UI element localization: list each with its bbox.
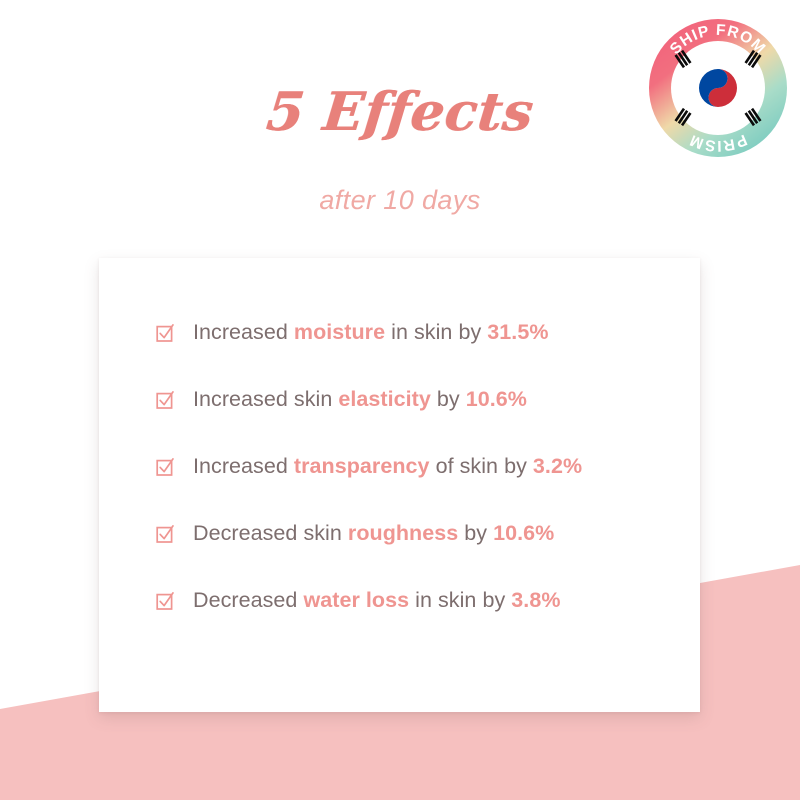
effect-text-prefix: Decreased skin: [193, 521, 348, 545]
effect-value: 10.6%: [466, 387, 527, 411]
checked-checkbox-icon: [156, 592, 174, 610]
effect-text: Decreased skin roughness by 10.6%: [193, 521, 554, 546]
effect-text: Increased skin elasticity by 10.6%: [193, 387, 527, 412]
checked-checkbox-icon: [156, 525, 174, 543]
effects-card: Increased moisture in skin by 31.5%Incre…: [99, 258, 700, 712]
effect-text-prefix: Increased: [193, 320, 294, 344]
effect-keyword: transparency: [294, 454, 430, 478]
effect-list-item: Increased transparency of skin by 3.2%: [156, 454, 582, 479]
page-title: 5 Effects: [264, 86, 536, 139]
effect-text: Increased moisture in skin by 31.5%: [193, 320, 549, 345]
effect-text-prefix: Increased skin: [193, 387, 338, 411]
effect-text: Decreased water loss in skin by 3.8%: [193, 588, 561, 613]
checked-checkbox-icon: [156, 391, 174, 409]
effect-text-prefix: Decreased: [193, 588, 303, 612]
effect-text-middle: in skin by: [385, 320, 487, 344]
effect-value: 10.6%: [493, 521, 554, 545]
effect-keyword: elasticity: [338, 387, 431, 411]
effects-list: Increased moisture in skin by 31.5%Incre…: [99, 258, 700, 712]
checked-checkbox-icon: [156, 324, 174, 342]
page-subtitle: after 10 days: [319, 185, 480, 215]
effect-list-item: Increased moisture in skin by 31.5%: [156, 320, 549, 345]
effect-text-middle: by: [431, 387, 466, 411]
effect-list-item: Decreased skin roughness by 10.6%: [156, 521, 554, 546]
effect-list-item: Decreased water loss in skin by 3.8%: [156, 588, 561, 613]
effect-text: Increased transparency of skin by 3.2%: [193, 454, 582, 479]
subtitle-container: after 10 days: [0, 185, 800, 216]
effect-keyword: water loss: [303, 588, 409, 612]
effect-text-middle: in skin by: [409, 588, 511, 612]
effect-value: 3.2%: [533, 454, 582, 478]
effect-keyword: roughness: [348, 521, 458, 545]
effect-value: 31.5%: [487, 320, 548, 344]
promo-graphic: SHIP FROM PRISM 5 Effects after 10 days …: [0, 0, 800, 800]
effect-text-prefix: Increased: [193, 454, 294, 478]
effect-keyword: moisture: [294, 320, 385, 344]
effect-list-item: Increased skin elasticity by 10.6%: [156, 387, 527, 412]
effect-text-middle: by: [458, 521, 493, 545]
checked-checkbox-icon: [156, 458, 174, 476]
effect-text-middle: of skin by: [430, 454, 533, 478]
effect-value: 3.8%: [511, 588, 560, 612]
ship-from-prism-badge: SHIP FROM PRISM: [647, 17, 789, 159]
